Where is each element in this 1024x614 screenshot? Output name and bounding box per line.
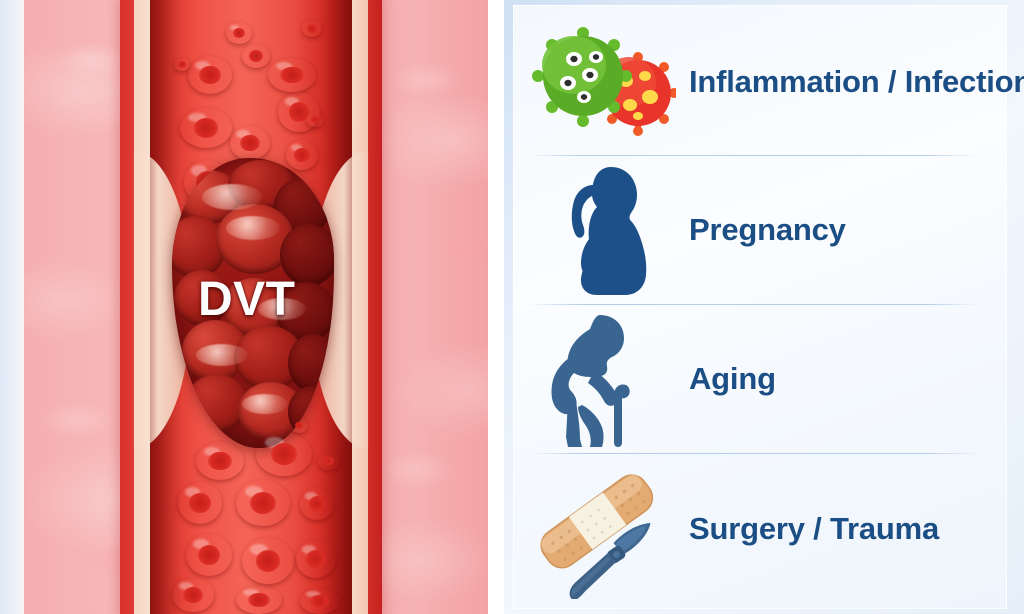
risk-label-aging: Aging: [689, 361, 776, 397]
left-edge-strip: [0, 0, 24, 614]
dvt-label: DVT: [198, 272, 296, 327]
red-blood-cell: [242, 538, 294, 584]
risk-factors-card: Inflammation / Infection Pregnancy: [513, 5, 1007, 609]
elderly-person-cane-icon: [513, 305, 689, 453]
red-blood-cell: [236, 480, 290, 526]
risk-row-surgery[interactable]: Surgery / Trauma: [513, 454, 1007, 604]
red-blood-cell: [230, 126, 270, 160]
risk-row-inflammation[interactable]: Inflammation / Infection: [513, 9, 1007, 155]
risk-row-pregnancy[interactable]: Pregnancy: [513, 156, 1007, 304]
pregnant-woman-icon-svg: [541, 163, 661, 297]
bandage-scalpel-icon: [513, 454, 689, 604]
dvt-illustration-panel: DVT: [0, 0, 500, 614]
risk-factors-panel: Inflammation / Infection Pregnancy: [504, 0, 1024, 614]
risk-label-inflammation: Inflammation / Infection: [689, 64, 1024, 100]
red-blood-cell: [196, 442, 244, 480]
red-blood-cell: [172, 578, 214, 612]
red-blood-cell: [186, 534, 232, 576]
red-blood-cell: [188, 56, 232, 94]
red-blood-cell: [268, 58, 316, 92]
bandage-scalpel-icon-svg: [526, 459, 676, 599]
red-blood-cell: [300, 588, 340, 614]
elderly-person-cane-icon-svg: [538, 309, 664, 449]
red-blood-cell: [300, 488, 334, 520]
red-blood-cell: [286, 140, 318, 170]
risk-label-surgery: Surgery / Trauma: [689, 511, 939, 547]
red-blood-cell: [226, 22, 252, 44]
red-blood-cell: [180, 108, 232, 148]
risk-row-aging[interactable]: Aging: [513, 305, 1007, 453]
red-blood-cell: [256, 432, 312, 476]
red-blood-cell: [318, 452, 340, 470]
infographic-root: DVT: [0, 0, 1024, 614]
red-blood-cell: [178, 482, 222, 524]
red-blood-cell: [302, 20, 322, 37]
red-blood-cell: [236, 586, 282, 614]
virus-icon: [513, 9, 689, 155]
virus-icon-svg: [526, 21, 676, 143]
risk-label-pregnancy: Pregnancy: [689, 212, 846, 248]
red-blood-cell: [242, 44, 270, 68]
red-blood-cell: [306, 112, 324, 127]
red-blood-cell: [290, 418, 308, 433]
red-blood-cell: [296, 540, 336, 578]
pregnant-woman-icon: [513, 156, 689, 304]
red-blood-cell: [174, 58, 190, 71]
